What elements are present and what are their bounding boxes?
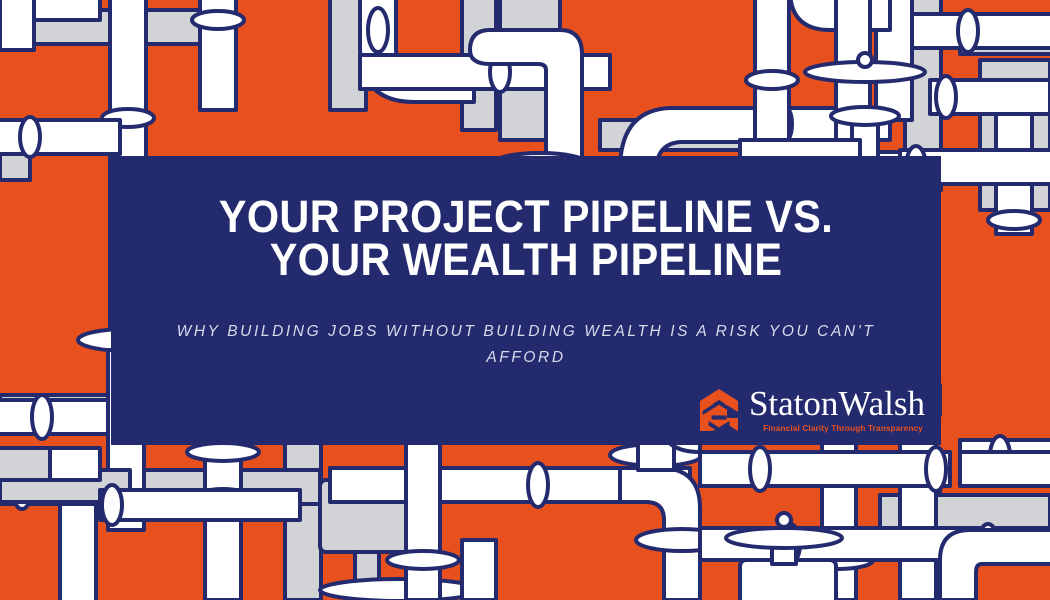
headline-card: YOUR PROJECT PIPELINE VS. YOUR WEALTH PI… [111,156,941,445]
brand-tagline: Financial Clarity Through Transparency [763,423,923,435]
brand-logo-lockup: StatonWalsh Financial Clarity Through Tr… [699,386,925,435]
page-subtitle: WHY BUILDING JOBS WITHOUT BUILDING WEALT… [171,319,881,371]
page-title: YOUR PROJECT PIPELINE VS. YOUR WEALTH PI… [144,195,908,281]
banner-canvas: .w{fill:#FFFFFF;stroke:#232B6E;stroke-wi… [0,0,1050,600]
brand-wordmark: StatonWalsh [749,386,925,422]
staton-walsh-house-s-mark [699,388,739,432]
